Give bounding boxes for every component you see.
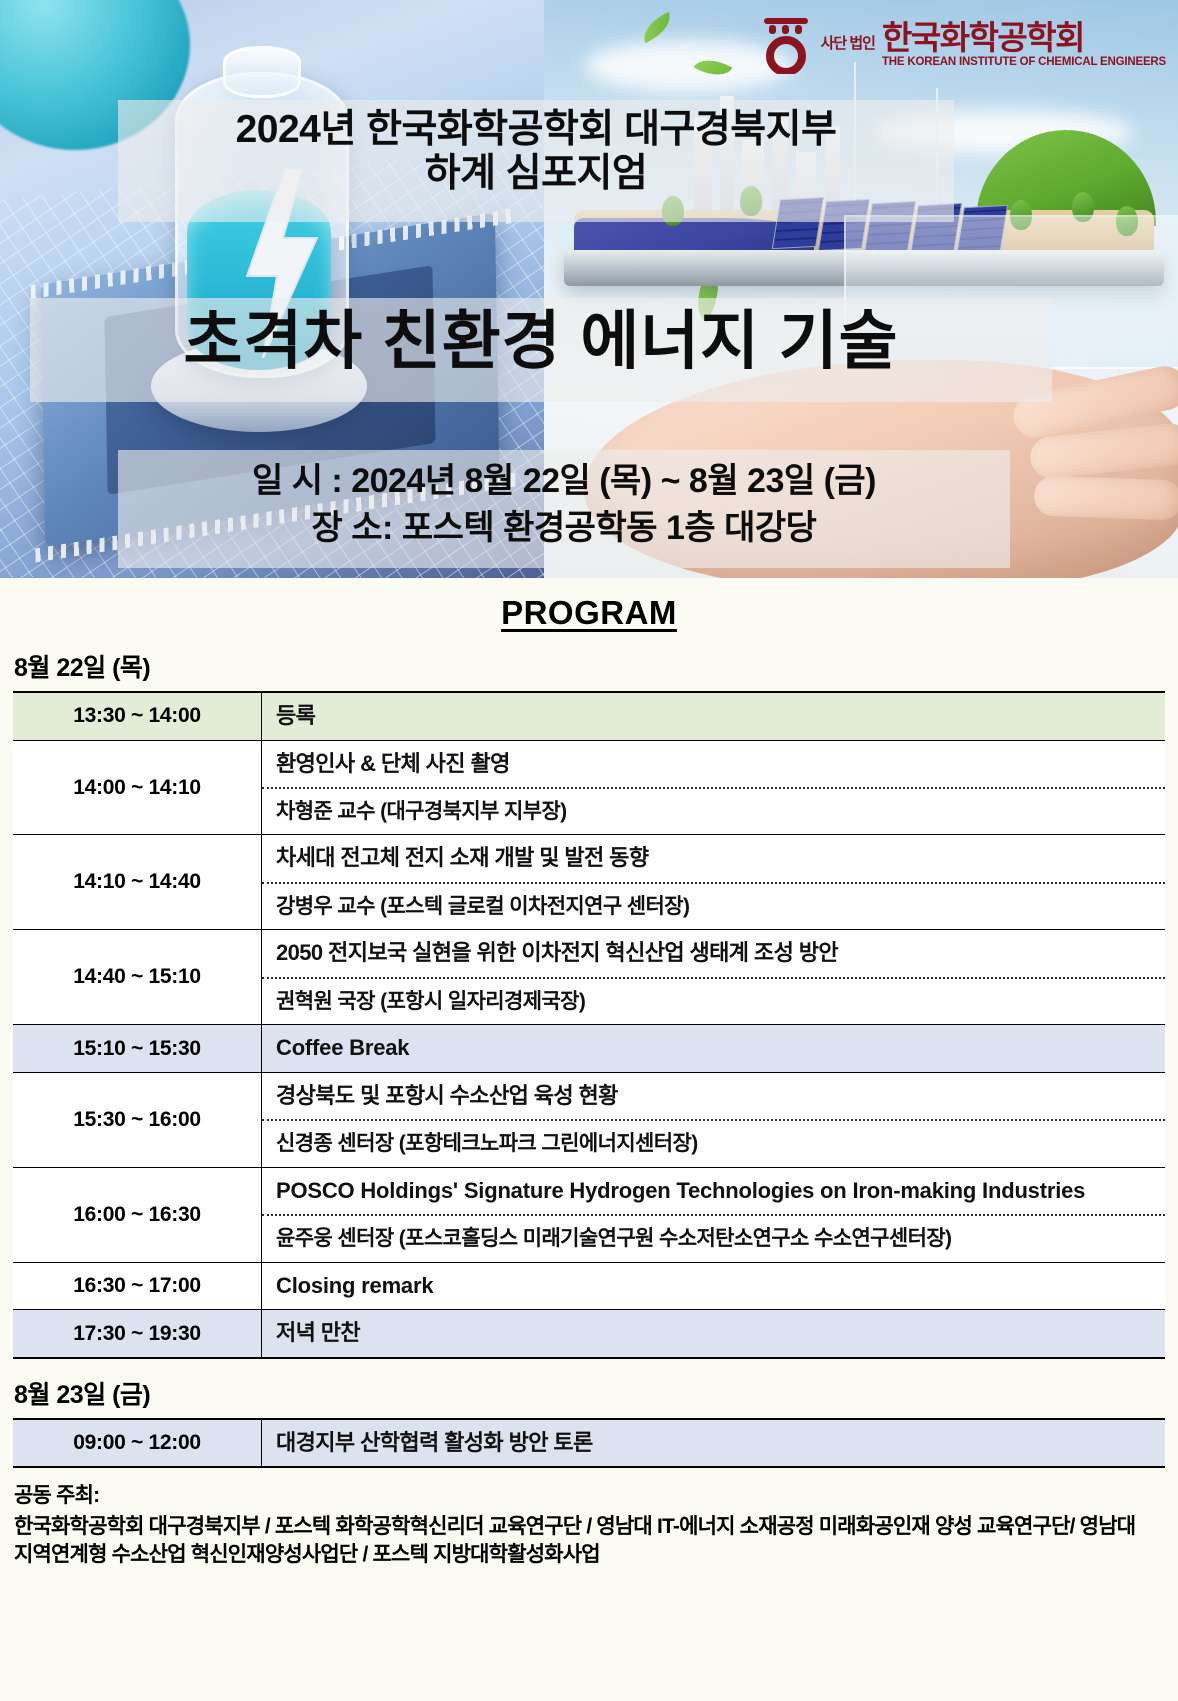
table-row: 16:30 ~ 17:00Closing remark (13, 1262, 1165, 1310)
session-details: 대경지부 산학협력 활성화 방안 토론 (262, 1419, 1166, 1468)
table-row: 09:00 ~ 12:00대경지부 산학협력 활성화 방안 토론 (13, 1419, 1165, 1468)
session-speaker: 차형준 교수 (대구경북지부 지부장) (262, 789, 1165, 834)
event-theme: 초격차 친환경 에너지 기술 (30, 306, 1052, 378)
session-details: 등록 (262, 692, 1166, 740)
session-speaker: 윤주웅 센터장 (포스코홀딩스 미래기술연구원 수소저탄소연구소 수소연구센터장… (262, 1216, 1165, 1261)
day-heading: 8월 22일 (목) (14, 648, 1178, 684)
co-organizers-label: 공동 주최: (14, 1482, 1158, 1510)
session-speaker: 강병우 교수 (포스텍 글로컬 이차전지연구 센터장) (262, 884, 1165, 929)
kiche-emblem-icon (758, 14, 814, 74)
kiche-english-name: THE KOREAN INSTITUTE OF CHEMICAL ENGINEE… (882, 56, 1166, 68)
session-title: 경상북도 및 포항시 수소산업 육성 현황 (262, 1073, 1165, 1122)
session-time: 14:10 ~ 14:40 (13, 835, 262, 930)
event-title: 2024년 한국화학공학회 대구경북지부 하계 심포지엄 (118, 108, 954, 195)
co-organizers: 공동 주최: 한국화학공학회 대구경북지부 / 포스텍 화학공학혁신리더 교육연… (14, 1482, 1178, 1568)
session-details: Coffee Break (262, 1025, 1166, 1073)
battery-cap (223, 46, 301, 98)
session-time: 13:30 ~ 14:00 (13, 692, 262, 740)
session-time: 15:10 ~ 15:30 (13, 1025, 262, 1073)
session-time: 16:00 ~ 16:30 (13, 1167, 262, 1262)
table-row: 14:40 ~ 15:102050 전지보국 실현을 위한 이차전지 혁신산업 … (13, 930, 1165, 1025)
hero-banner: 사단 법인 한국화학공학회 THE KOREAN INSTITUTE OF CH… (0, 0, 1178, 578)
schedule-table: 09:00 ~ 12:00대경지부 산학협력 활성화 방안 토론 (13, 1418, 1165, 1469)
kiche-logo-names: 한국화학공학회 THE KOREAN INSTITUTE OF CHEMICAL… (882, 21, 1166, 68)
session-time: 16:30 ~ 17:00 (13, 1262, 262, 1310)
session-details: 환영인사 & 단체 사진 촬영차형준 교수 (대구경북지부 지부장) (262, 740, 1166, 835)
session-details: POSCO Holdings' Signature Hydrogen Techn… (262, 1167, 1166, 1262)
session-speaker: 신경종 센터장 (포항테크노파크 그린에너지센터장) (262, 1121, 1165, 1166)
event-datetime-venue: 일 시 : 2024년 8월 22일 (목) ~ 8월 23일 (금) 장 소:… (118, 458, 1010, 552)
session-time: 14:00 ~ 14:10 (13, 740, 262, 835)
day-heading: 8월 23일 (금) (14, 1375, 1178, 1411)
session-details: 저녁 만찬 (262, 1310, 1166, 1358)
table-row: 14:10 ~ 14:40차세대 전고체 전지 소재 개발 및 발전 동향강병우… (13, 835, 1165, 930)
kiche-corporate-label: 사단 법인 (821, 35, 875, 53)
session-details: 경상북도 및 포항시 수소산업 육성 현황신경종 센터장 (포항테크노파크 그린… (262, 1072, 1166, 1167)
session-title: POSCO Holdings' Signature Hydrogen Techn… (262, 1168, 1165, 1217)
session-time: 09:00 ~ 12:00 (13, 1419, 262, 1468)
session-details: Closing remark (262, 1262, 1166, 1310)
session-details: 차세대 전고체 전지 소재 개발 및 발전 동향강병우 교수 (포스텍 글로컬 … (262, 835, 1166, 930)
session-title: 대경지부 산학협력 활성화 방안 토론 (262, 1420, 1165, 1467)
session-title: 차세대 전고체 전지 소재 개발 및 발전 동향 (262, 835, 1165, 884)
leaf-decoration (638, 12, 677, 43)
table-row: 15:30 ~ 16:00경상북도 및 포항시 수소산업 육성 현황신경종 센터… (13, 1072, 1165, 1167)
kiche-korean-name: 한국화학공학회 (882, 21, 1166, 54)
program-heading: PROGRAM (0, 594, 1178, 632)
session-time: 17:30 ~ 19:30 (13, 1310, 262, 1358)
program-days: 8월 22일 (목)13:30 ~ 14:00등록14:00 ~ 14:10환영… (0, 648, 1178, 1468)
session-title: Closing remark (262, 1263, 1165, 1310)
hand-finger (1033, 475, 1178, 520)
kiche-logo: 사단 법인 한국화학공학회 THE KOREAN INSTITUTE OF CH… (758, 14, 1166, 74)
session-time: 15:30 ~ 16:00 (13, 1072, 262, 1167)
session-speaker: 권혁원 국장 (포항시 일자리경제국장) (262, 979, 1165, 1024)
table-row: 17:30 ~ 19:30저녁 만찬 (13, 1310, 1165, 1358)
table-row: 13:30 ~ 14:00등록 (13, 692, 1165, 740)
session-title: 환영인사 & 단체 사진 촬영 (262, 741, 1165, 790)
session-title: Coffee Break (262, 1025, 1165, 1072)
poster-root: 사단 법인 한국화학공학회 THE KOREAN INSTITUTE OF CH… (0, 0, 1178, 1701)
session-details: 2050 전지보국 실현을 위한 이차전지 혁신산업 생태계 조성 방안권혁원 … (262, 930, 1166, 1025)
table-row: 16:00 ~ 16:30POSCO Holdings' Signature H… (13, 1167, 1165, 1262)
session-title: 저녁 만찬 (262, 1310, 1165, 1357)
session-time: 14:40 ~ 15:10 (13, 930, 262, 1025)
schedule-table: 13:30 ~ 14:00등록14:00 ~ 14:10환영인사 & 단체 사진… (13, 691, 1165, 1359)
session-title: 2050 전지보국 실현을 위한 이차전지 혁신산업 생태계 조성 방안 (262, 930, 1165, 979)
table-row: 14:00 ~ 14:10환영인사 & 단체 사진 촬영차형준 교수 (대구경북… (13, 740, 1165, 835)
co-organizers-text: 한국화학공학회 대구경북지부 / 포스텍 화학공학혁신리더 교육연구단 / 영남… (14, 1515, 1135, 1566)
session-title: 등록 (262, 693, 1165, 740)
table-row: 15:10 ~ 15:30Coffee Break (13, 1025, 1165, 1073)
